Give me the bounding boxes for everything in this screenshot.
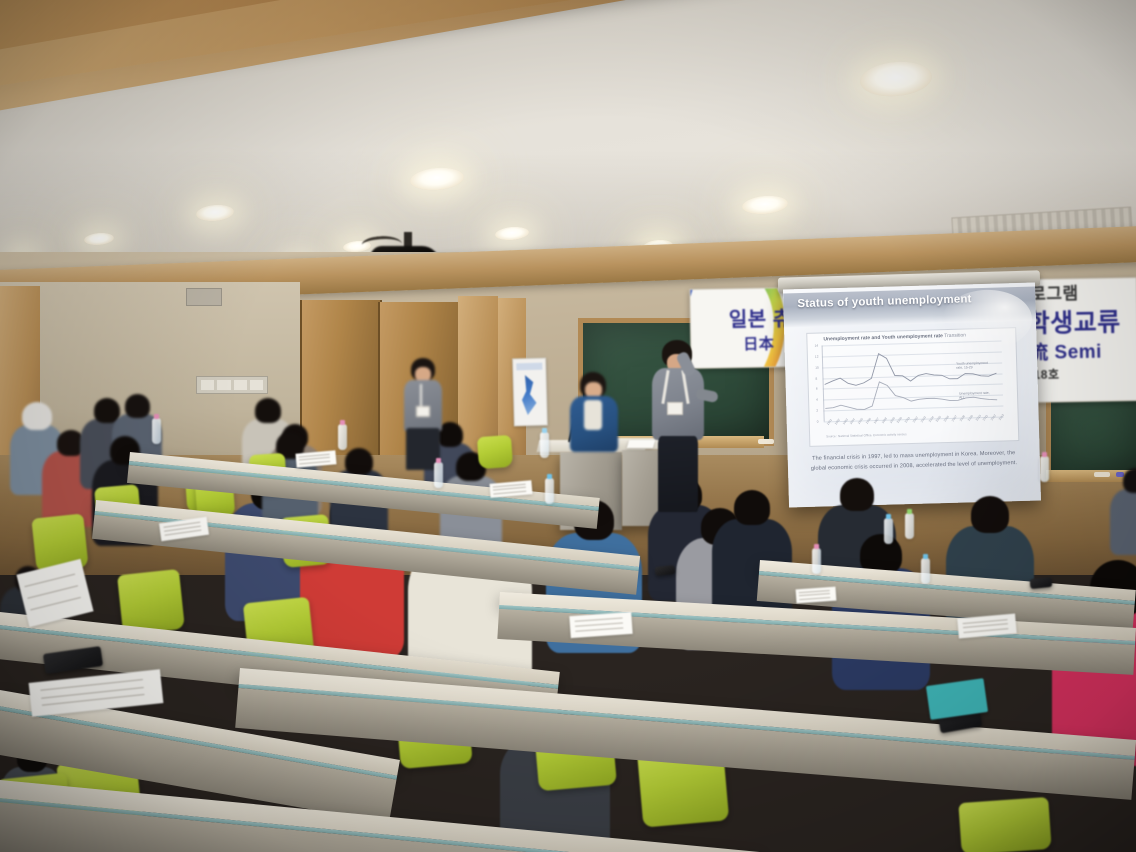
chart-y-tick: 4 xyxy=(816,398,818,402)
chair xyxy=(958,797,1051,852)
chart-y-tick: 10 xyxy=(815,365,819,369)
presenter-badge xyxy=(667,402,683,415)
slide-caption-line1: The financial crisis in 1997, led to mas… xyxy=(812,451,978,462)
chart-source: Source : National Statistical Office, Ec… xyxy=(826,432,907,438)
water-bottle xyxy=(338,424,347,450)
chart-legend-youth: Youth unemployment rate, 15-29 xyxy=(956,361,988,370)
seminar-room-photo: 일본 츄오 日本 로그램 학생교류 流 Semi 18호 Status of y… xyxy=(0,0,1136,852)
handout-paper xyxy=(796,587,837,604)
banner-right-line2: 학생교류 xyxy=(1026,302,1121,340)
water-bottle xyxy=(545,478,554,504)
water-bottle xyxy=(921,558,930,584)
water-bottle xyxy=(152,418,161,444)
chart-legend-all: Unemployment rate, ALL xyxy=(959,391,990,400)
chair xyxy=(477,435,513,469)
chart-title: Unemployment rate and Youth unemployment… xyxy=(823,332,966,342)
staff-badge xyxy=(416,406,430,417)
moderator-blouse xyxy=(584,400,602,430)
attendee xyxy=(1110,468,1136,559)
projection-screen: Status of youth unemployment Unemploymen… xyxy=(783,283,1041,508)
chart-y-tick: 14 xyxy=(815,344,819,348)
water-bottle xyxy=(905,513,914,539)
slide-caption: The financial crisis in 1997, led to mas… xyxy=(808,449,1020,474)
water-bottle xyxy=(540,432,549,458)
chart-y-tick: 2 xyxy=(816,409,818,413)
person-head xyxy=(22,402,52,430)
person-head xyxy=(255,398,281,423)
handout-paper xyxy=(569,612,632,638)
staff-member xyxy=(400,358,446,470)
moderator xyxy=(566,372,622,456)
person-head xyxy=(345,448,373,475)
water-bottle xyxy=(1040,456,1049,482)
person-head xyxy=(734,490,770,525)
banner-left-line2: 日本 xyxy=(743,332,774,354)
chart-title-bold: Unemployment rate and Youth unemployment… xyxy=(823,333,943,342)
person-head xyxy=(971,496,1009,533)
chart-y-tick: 6 xyxy=(816,387,818,391)
person-torso xyxy=(1110,489,1136,555)
presenter-trousers xyxy=(658,436,698,512)
water-bottle xyxy=(434,462,443,488)
banner-right: 로그램 학생교류 流 Semi 18호 xyxy=(1025,277,1136,403)
staff-lanyard xyxy=(420,384,422,408)
wall-speaker-icon xyxy=(186,288,222,306)
slide-caption-line3: the level of unemployment. xyxy=(948,460,1018,468)
chart-series-lines xyxy=(822,340,1004,421)
person-head xyxy=(125,394,150,418)
person-head xyxy=(1123,468,1136,493)
screen-light-hotspot xyxy=(941,289,1033,351)
legend-youth-line2: rate, 15-29 xyxy=(956,366,973,370)
handout-paper xyxy=(29,669,164,717)
presenter xyxy=(634,340,718,512)
water-bottle xyxy=(812,548,821,574)
chart-plot-area: 02468101214 xyxy=(822,340,1004,421)
chart-y-tick: 12 xyxy=(815,354,819,358)
water-bottle xyxy=(884,518,893,544)
banner-right-line3: 流 Semi xyxy=(1029,337,1102,365)
legend-all-line2: ALL xyxy=(959,396,965,400)
chart-y-tick: 8 xyxy=(815,376,817,380)
wall-switch-panel xyxy=(196,376,268,394)
poster-icon xyxy=(512,358,548,427)
chart-y-tick: 0 xyxy=(817,420,819,424)
person-head xyxy=(840,478,874,511)
